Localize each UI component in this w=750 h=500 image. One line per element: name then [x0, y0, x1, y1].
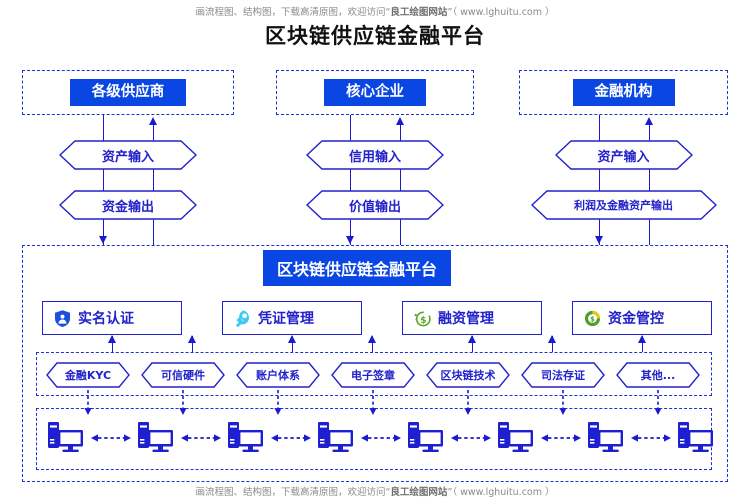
shield-person-icon	[53, 309, 72, 328]
certificate-icon	[233, 309, 252, 328]
node-link-5	[451, 430, 491, 444]
arrow-down-supplier	[99, 236, 107, 244]
flow-node-label: 价值输出	[349, 196, 401, 215]
service-1[interactable]: 实名认证	[42, 301, 182, 335]
node-link-2	[181, 430, 221, 444]
flow-node-supplier-1: 资金输出	[59, 190, 197, 220]
service-uparrow-4	[638, 335, 646, 343]
service-uparrow-3	[468, 335, 476, 343]
page-title: 区块链供应链金融平台	[0, 20, 750, 50]
service-3[interactable]: $融资管理	[402, 301, 542, 335]
technology-label: 其他...	[641, 367, 676, 383]
flow-node-supplier-0: 资产输入	[59, 140, 197, 170]
platform-stub-arrow-3	[548, 335, 556, 343]
platform-stub-arrow-1	[188, 335, 196, 343]
flow-node-core-enterprise-1: 价值输出	[306, 190, 444, 220]
computer-icon	[137, 420, 175, 454]
flow-node-label: 利润及金融资产输出	[574, 197, 673, 213]
watermark-bottom: 画流程图、结构图，下载高清原图，欢迎访问“良工绘图网站”（ www.lghuit…	[0, 484, 750, 498]
computer-icon	[587, 420, 625, 454]
technology-label: 电子签章	[351, 367, 395, 383]
platform-title: 区块链供应链金融平台	[263, 250, 451, 286]
service-4[interactable]: $资金管控	[572, 301, 712, 335]
watermark-suffix: ”（ www.lghuitu.com ）	[447, 7, 554, 18]
dollar-pie-icon: $	[583, 309, 602, 328]
watermark-brand: 良工绘图网站	[390, 7, 447, 18]
technology-tag-4: 电子签章	[331, 362, 415, 388]
svg-text:$: $	[590, 315, 595, 323]
entity-label-supplier: 各级供应商	[70, 79, 187, 106]
service-2[interactable]: 凭证管理	[222, 301, 362, 335]
svg-text:$: $	[420, 315, 426, 325]
node-link-6	[541, 430, 581, 444]
technology-label: 可信硬件	[161, 367, 205, 383]
technology-tag-7: 其他...	[616, 362, 700, 388]
technology-tag-1: 金融KYC	[46, 362, 130, 388]
platform-stub-arrow-2	[368, 335, 376, 343]
arrow-up-financial-institution	[645, 117, 653, 125]
technology-label: 区块链技术	[441, 367, 496, 383]
watermark-top: 画流程图、结构图，下载高清原图，欢迎访问“良工绘图网站”（ www.lghuit…	[0, 4, 750, 18]
technology-label: 司法存证	[541, 367, 585, 383]
flow-node-label: 资金输出	[102, 196, 154, 215]
watermark-brand: 良工绘图网站	[390, 487, 447, 498]
watermark-prefix: 画流程图、结构图，下载高清原图，欢迎访问“	[195, 487, 390, 498]
flow-line-down-core-enterprise	[350, 115, 351, 245]
entity-group-financial-institution: 金融机构	[519, 70, 728, 115]
entity-group-core-enterprise: 核心企业	[276, 70, 474, 115]
flow-node-label: 资产输入	[597, 146, 649, 165]
computer-icon	[47, 420, 85, 454]
flow-node-financial-institution-0: 资产输入	[555, 140, 693, 170]
technology-tag-2: 可信硬件	[141, 362, 225, 388]
entity-label-financial-institution: 金融机构	[573, 79, 675, 106]
service-uparrow-2	[288, 335, 296, 343]
dollar-circle-icon: $	[413, 309, 432, 328]
arrow-up-core-enterprise	[396, 117, 404, 125]
service-uparrow-1	[108, 335, 116, 343]
watermark-suffix: ”（ www.lghuitu.com ）	[447, 487, 554, 498]
technology-tag-5: 区块链技术	[426, 362, 510, 388]
entity-label-core-enterprise: 核心企业	[324, 79, 426, 106]
node-link-4	[361, 430, 401, 444]
flow-node-core-enterprise-0: 信用输入	[306, 140, 444, 170]
watermark-prefix: 画流程图、结构图，下载高清原图，欢迎访问“	[195, 7, 390, 18]
technology-tag-6: 司法存证	[521, 362, 605, 388]
flow-node-label: 资产输入	[102, 146, 154, 165]
flow-node-financial-institution-1: 利润及金融资产输出	[531, 190, 717, 220]
service-label: 实名认证	[78, 308, 134, 328]
service-label: 融资管理	[438, 308, 494, 328]
computer-icon	[227, 420, 265, 454]
entity-group-supplier: 各级供应商	[22, 70, 234, 115]
arrow-down-core-enterprise	[346, 236, 354, 244]
technology-label: 金融KYC	[65, 367, 111, 383]
computer-icon	[497, 420, 535, 454]
node-link-1	[91, 430, 131, 444]
node-link-3	[271, 430, 311, 444]
flow-line-down-financial-institution	[599, 115, 600, 245]
computer-icon	[407, 420, 445, 454]
flow-node-label: 信用输入	[349, 146, 401, 165]
arrow-up-supplier	[149, 117, 157, 125]
node-link-7	[631, 430, 671, 444]
service-label: 凭证管理	[258, 308, 314, 328]
flow-line-down-supplier	[103, 115, 104, 245]
computer-icon	[677, 420, 715, 454]
technology-tag-3: 账户体系	[236, 362, 320, 388]
arrow-down-financial-institution	[595, 236, 603, 244]
technology-label: 账户体系	[256, 367, 300, 383]
computer-icon	[317, 420, 355, 454]
service-label: 资金管控	[608, 308, 664, 328]
